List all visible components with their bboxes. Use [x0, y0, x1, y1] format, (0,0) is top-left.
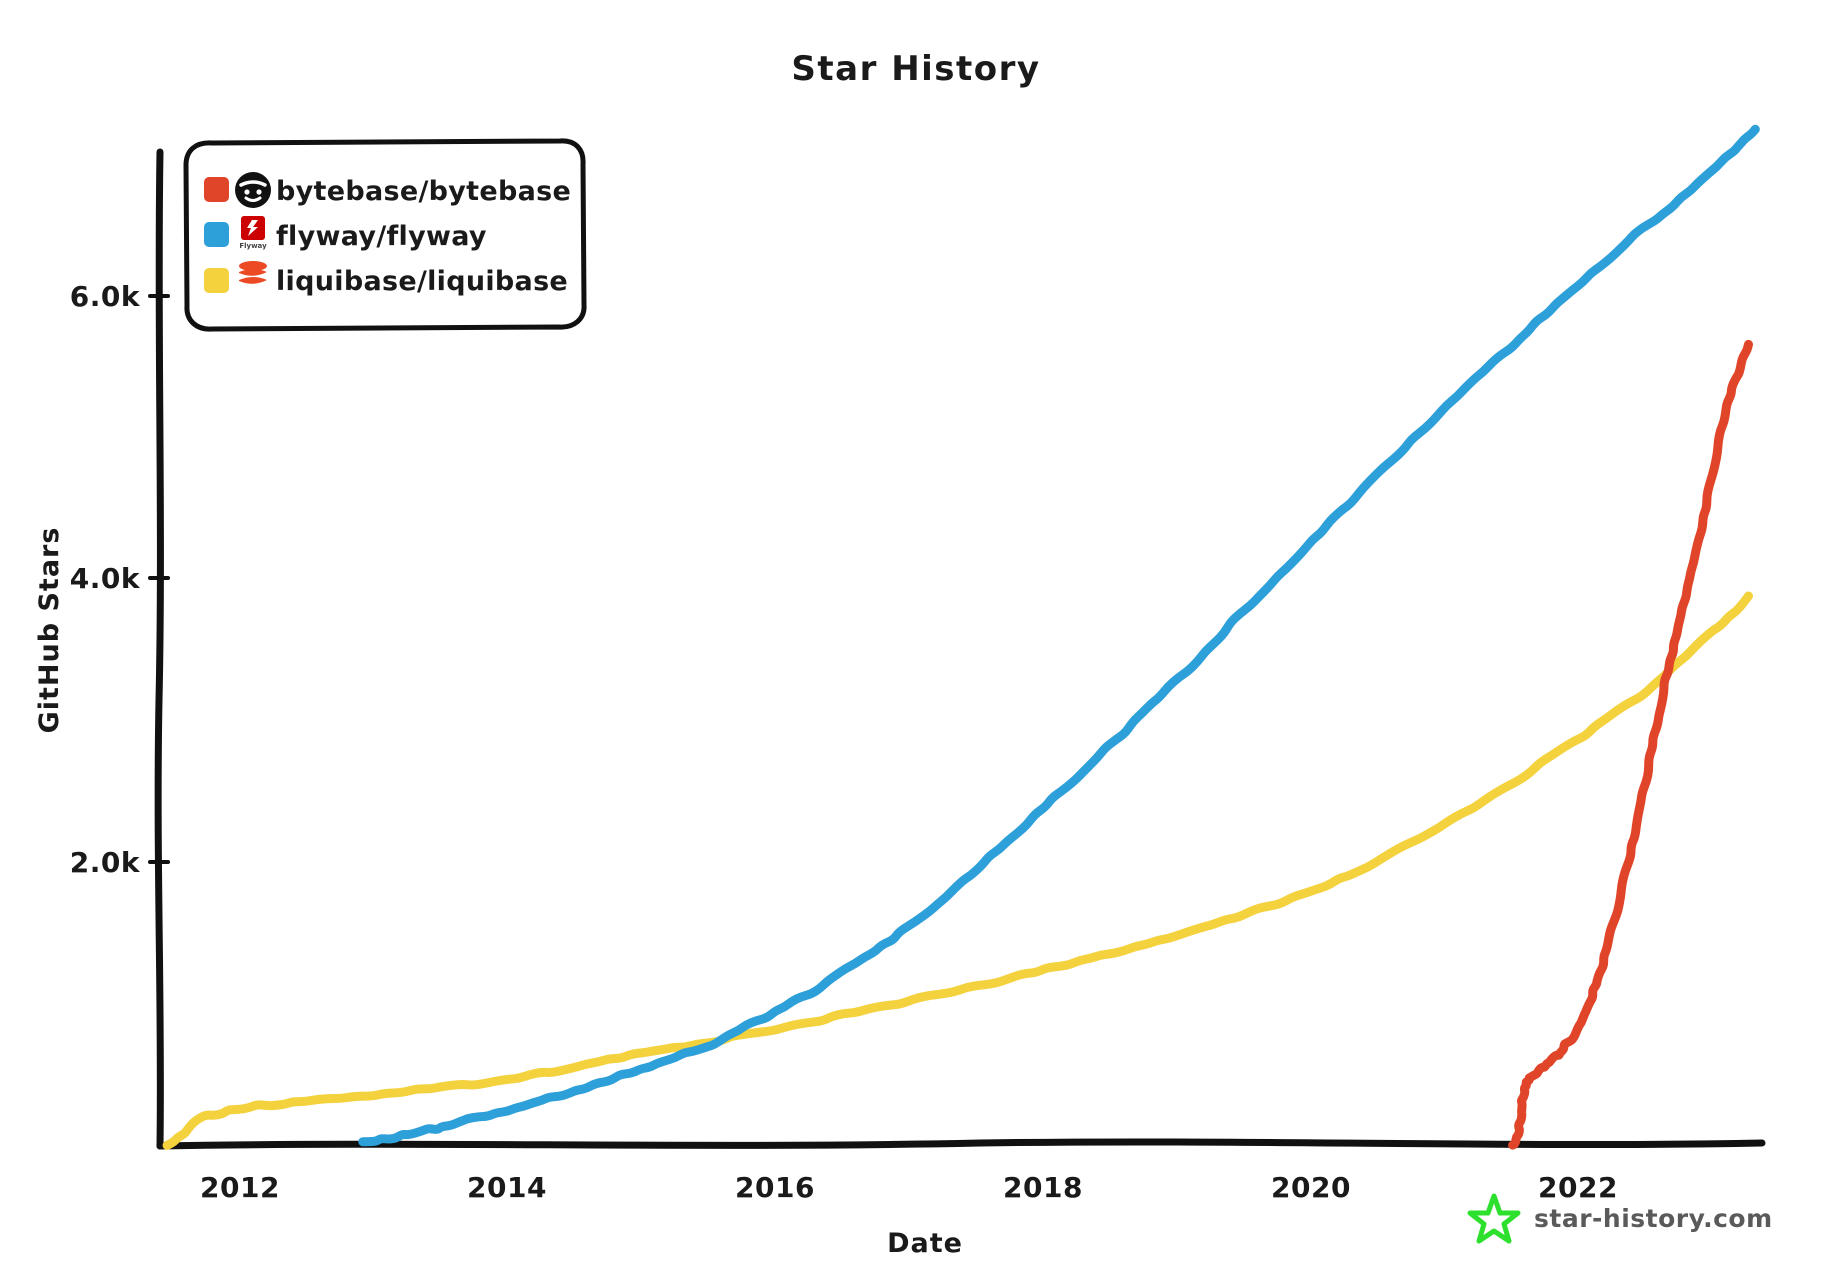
bytebase-logo-icon: [235, 172, 271, 208]
legend-label-flyway: flyway/flyway: [276, 221, 487, 252]
y-tick-label-2000: 2.0k: [70, 846, 141, 879]
y-axis-title: GitHub Stars: [34, 527, 65, 734]
star-icon: [1470, 1196, 1518, 1241]
x-tick-label-2012: 2012: [200, 1171, 280, 1204]
legend-label-bytebase: bytebase/bytebase: [276, 176, 571, 207]
watermark[interactable]: star-history.com: [1470, 1196, 1773, 1241]
y-tick-label-4000: 4.0k: [70, 562, 141, 595]
legend-swatch-bytebase: [204, 177, 229, 202]
legend-item-flyway[interactable]: Flyway flyway/flyway: [204, 216, 487, 252]
flyway-logo-icon: Flyway: [239, 216, 267, 250]
legend-swatch-liquibase: [204, 268, 229, 293]
x-tick-label-2020: 2020: [1271, 1171, 1351, 1204]
legend-item-bytebase[interactable]: bytebase/bytebase: [204, 172, 571, 208]
x-axis-title: Date: [887, 1228, 963, 1259]
x-tick-label-2016: 2016: [735, 1171, 815, 1204]
chart-legend[interactable]: bytebase/bytebase Flyway flyway/flyway: [186, 141, 584, 329]
y-axis-line: [158, 152, 160, 1146]
y-tick-label-6000: 6.0k: [70, 280, 141, 313]
x-tick-label-2022: 2022: [1538, 1171, 1618, 1204]
svg-text:Flyway: Flyway: [239, 242, 267, 250]
x-tick-label-2014: 2014: [467, 1171, 547, 1204]
x-tick-label-2018: 2018: [1003, 1171, 1083, 1204]
legend-label-liquibase: liquibase/liquibase: [276, 266, 568, 297]
legend-swatch-flyway: [204, 222, 229, 247]
x-axis-line: [160, 1142, 1762, 1146]
liquibase-logo-icon: [239, 261, 267, 284]
chart-title: Star History: [791, 49, 1040, 89]
series-line-liquibase: [167, 596, 1748, 1145]
watermark-label: star-history.com: [1534, 1204, 1773, 1233]
series-line-bytebase: [1513, 344, 1749, 1145]
star-history-chart: Star History 2.0k 4.0k 6.0k GitHub Stars…: [0, 0, 1832, 1276]
chart-canvas: Star History 2.0k 4.0k 6.0k GitHub Stars…: [0, 0, 1832, 1276]
